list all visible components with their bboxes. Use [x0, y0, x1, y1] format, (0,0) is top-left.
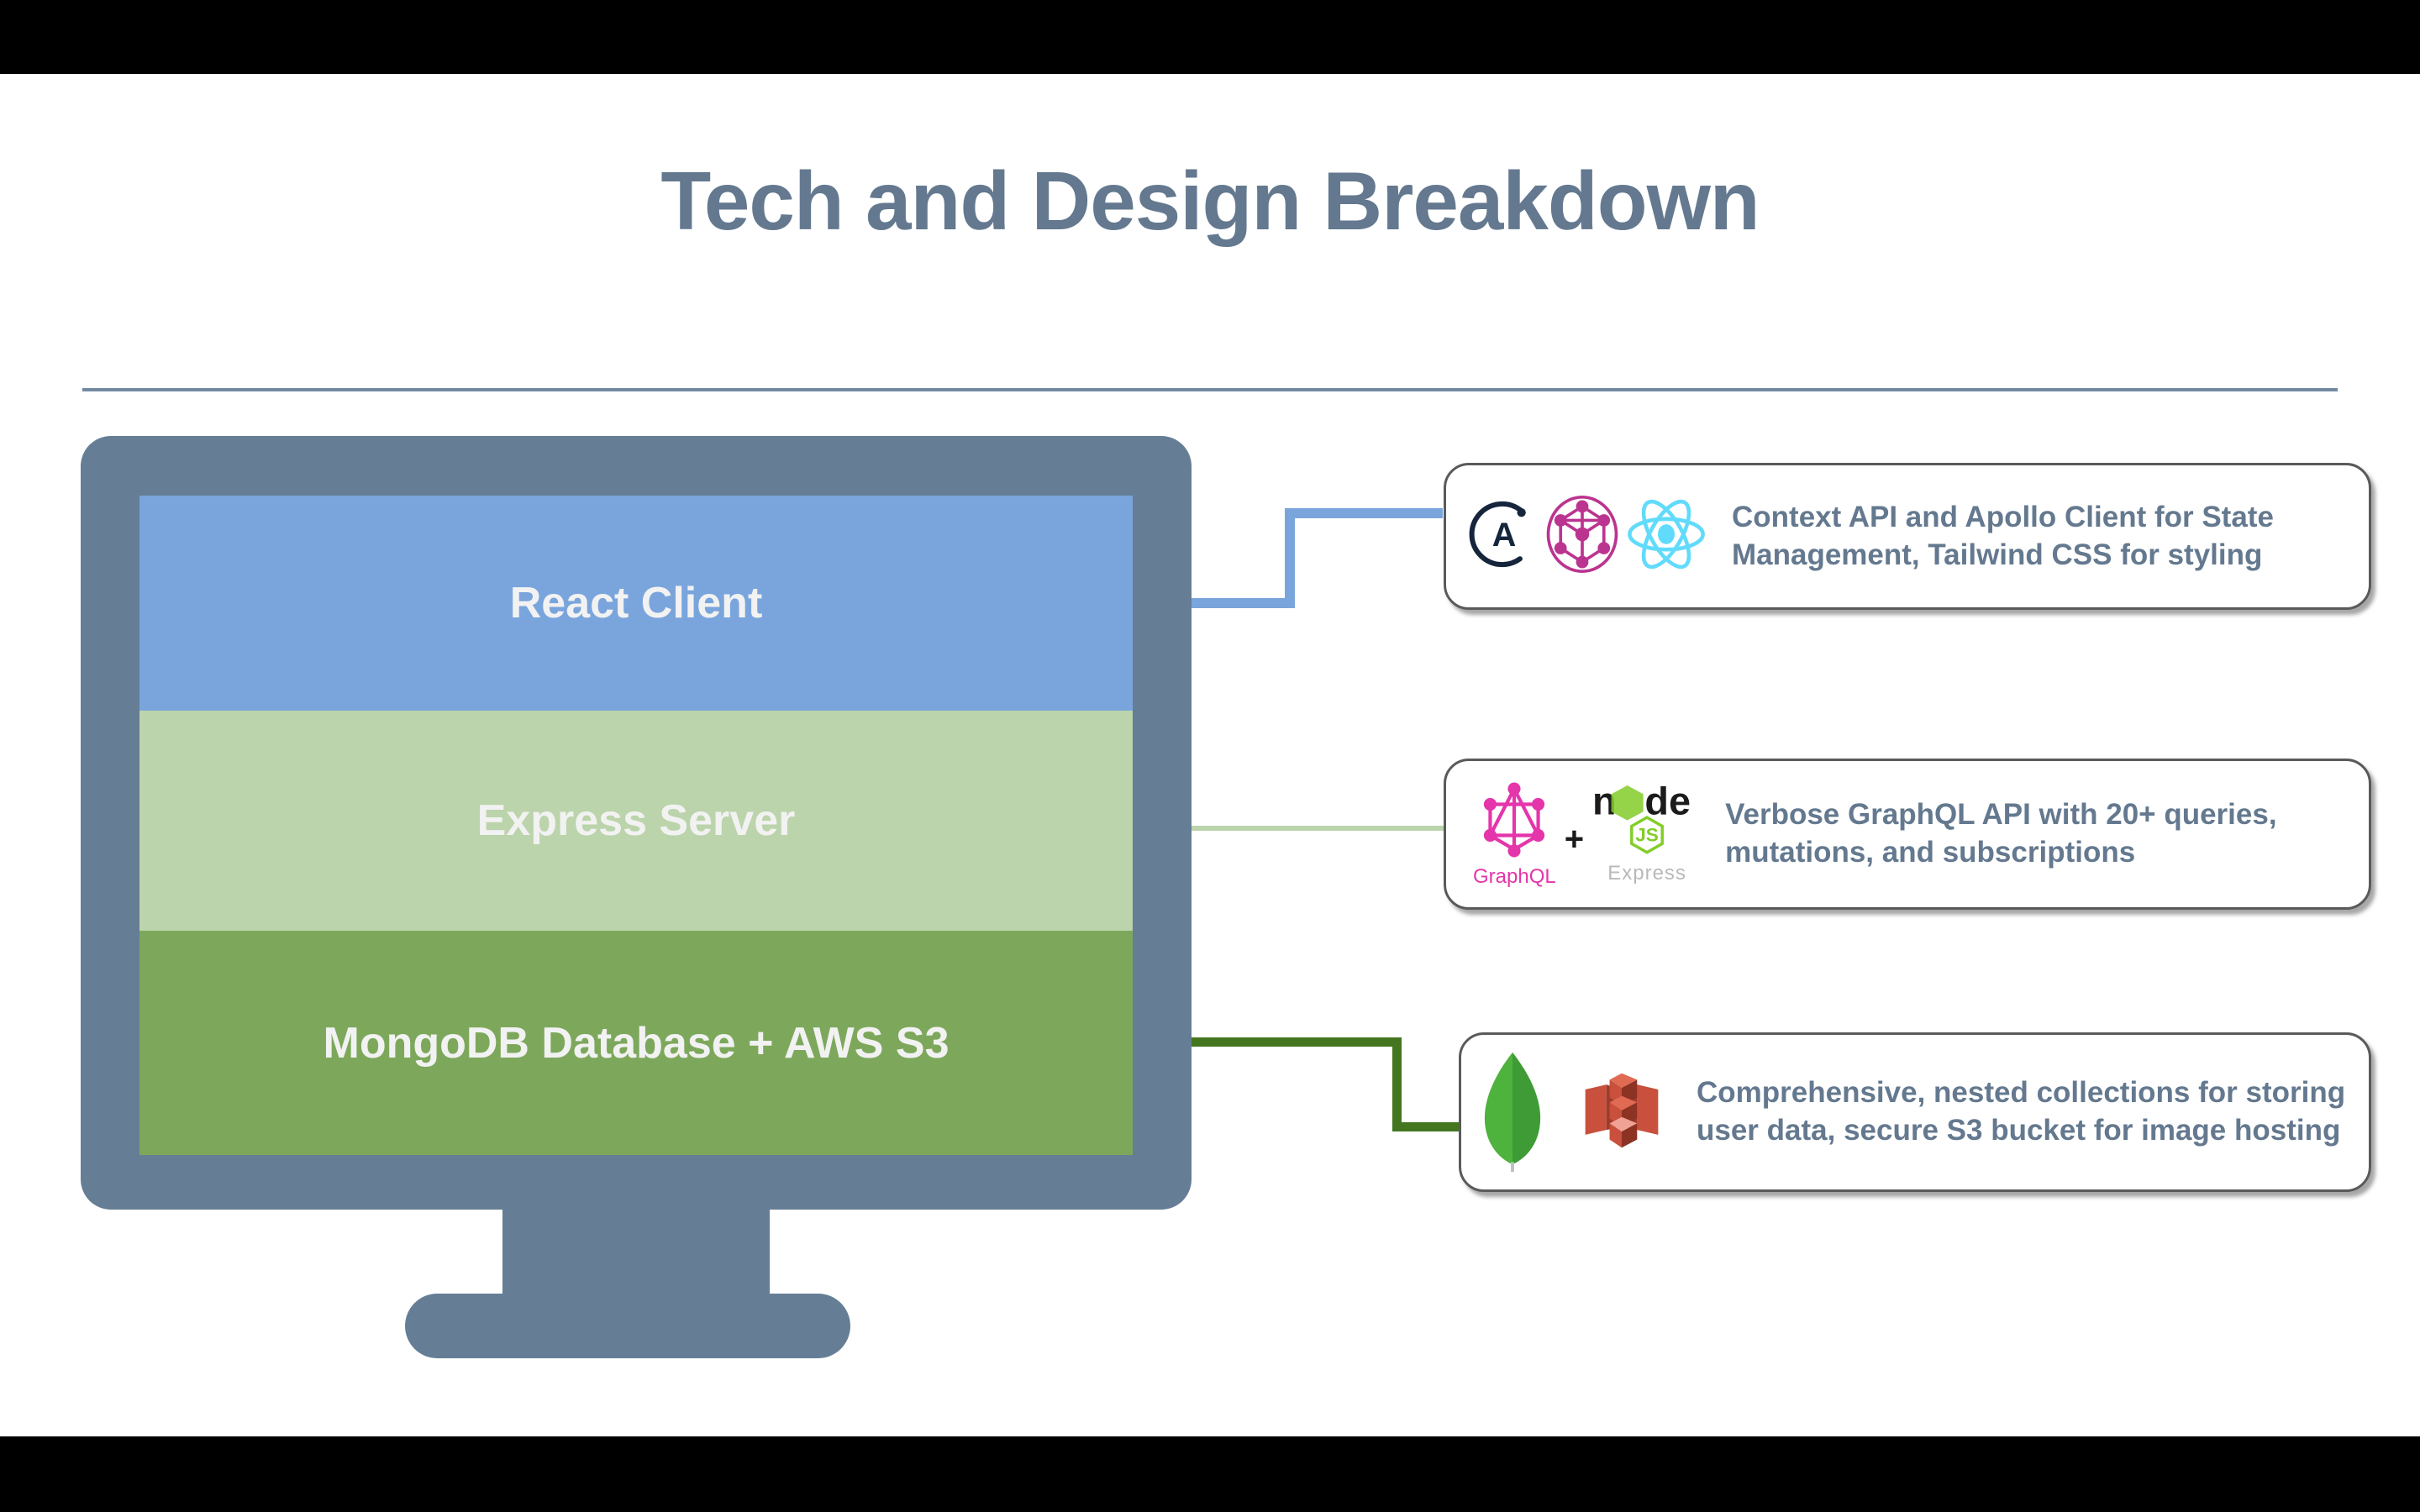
- graphql-logo-group: GraphQL: [1473, 780, 1556, 888]
- callout-react-text: Context API and Apollo Client for State …: [1708, 499, 2369, 575]
- apollo-graphql-icon: A: [1468, 496, 1540, 577]
- callout-react-logos: A: [1446, 494, 1708, 579]
- mongodb-leaf-icon: [1480, 1047, 1545, 1178]
- letterbox-top: [0, 0, 2420, 74]
- page-title: Tech and Design Breakdown: [0, 160, 2420, 242]
- graphql-circle-icon: [1544, 494, 1621, 579]
- connector-react-segment-3: [1285, 508, 1443, 518]
- monitor-screen: React Client Express Server MongoDB Data…: [139, 496, 1133, 1155]
- callout-express-logos: GraphQL + n de JS Express: [1446, 780, 1702, 888]
- connector-react-segment-1: [1192, 598, 1295, 608]
- aws-s3-icon: [1577, 1067, 1666, 1158]
- monitor-stand-base: [405, 1294, 850, 1358]
- svg-text:de: de: [1644, 780, 1691, 823]
- callout-database-text: Comprehensive, nested collections for st…: [1666, 1074, 2369, 1150]
- stack-layer-database: MongoDB Database + AWS S3: [139, 931, 1133, 1155]
- callout-express-server[interactable]: GraphQL + n de JS Express: [1444, 759, 2371, 910]
- stack-layer-react-client: React Client: [139, 496, 1133, 711]
- graphql-caption: GraphQL: [1473, 866, 1556, 888]
- connector-express-line: [1192, 826, 1444, 831]
- connector-database-segment-2: [1392, 1037, 1402, 1131]
- slide-canvas: Tech and Design Breakdown React Client E…: [0, 0, 2420, 1512]
- svg-text:A: A: [1492, 517, 1517, 554]
- callout-database-logos: [1461, 1047, 1666, 1178]
- title-divider: [82, 388, 2338, 391]
- svg-text:JS: JS: [1635, 825, 1659, 846]
- callout-react-client[interactable]: A: [1444, 463, 2371, 610]
- callout-database[interactable]: Comprehensive, nested collections for st…: [1459, 1032, 2371, 1192]
- stack-layer-express-server: Express Server: [139, 711, 1133, 931]
- monitor-stand-neck: [502, 1210, 770, 1302]
- nodejs-icon: n de JS: [1592, 780, 1702, 861]
- react-icon: [1624, 494, 1708, 579]
- letterbox-bottom: [0, 1436, 2420, 1512]
- callout-express-text: Verbose GraphQL API with 20+ queries, mu…: [1702, 796, 2369, 872]
- connector-database-segment-1: [1192, 1037, 1402, 1047]
- express-caption: Express: [1607, 863, 1686, 885]
- plus-sign-icon: +: [1565, 821, 1584, 858]
- connector-react-segment-2: [1285, 508, 1295, 607]
- graphql-icon: [1479, 780, 1549, 864]
- nodejs-express-logo-group: n de JS Express: [1592, 780, 1702, 885]
